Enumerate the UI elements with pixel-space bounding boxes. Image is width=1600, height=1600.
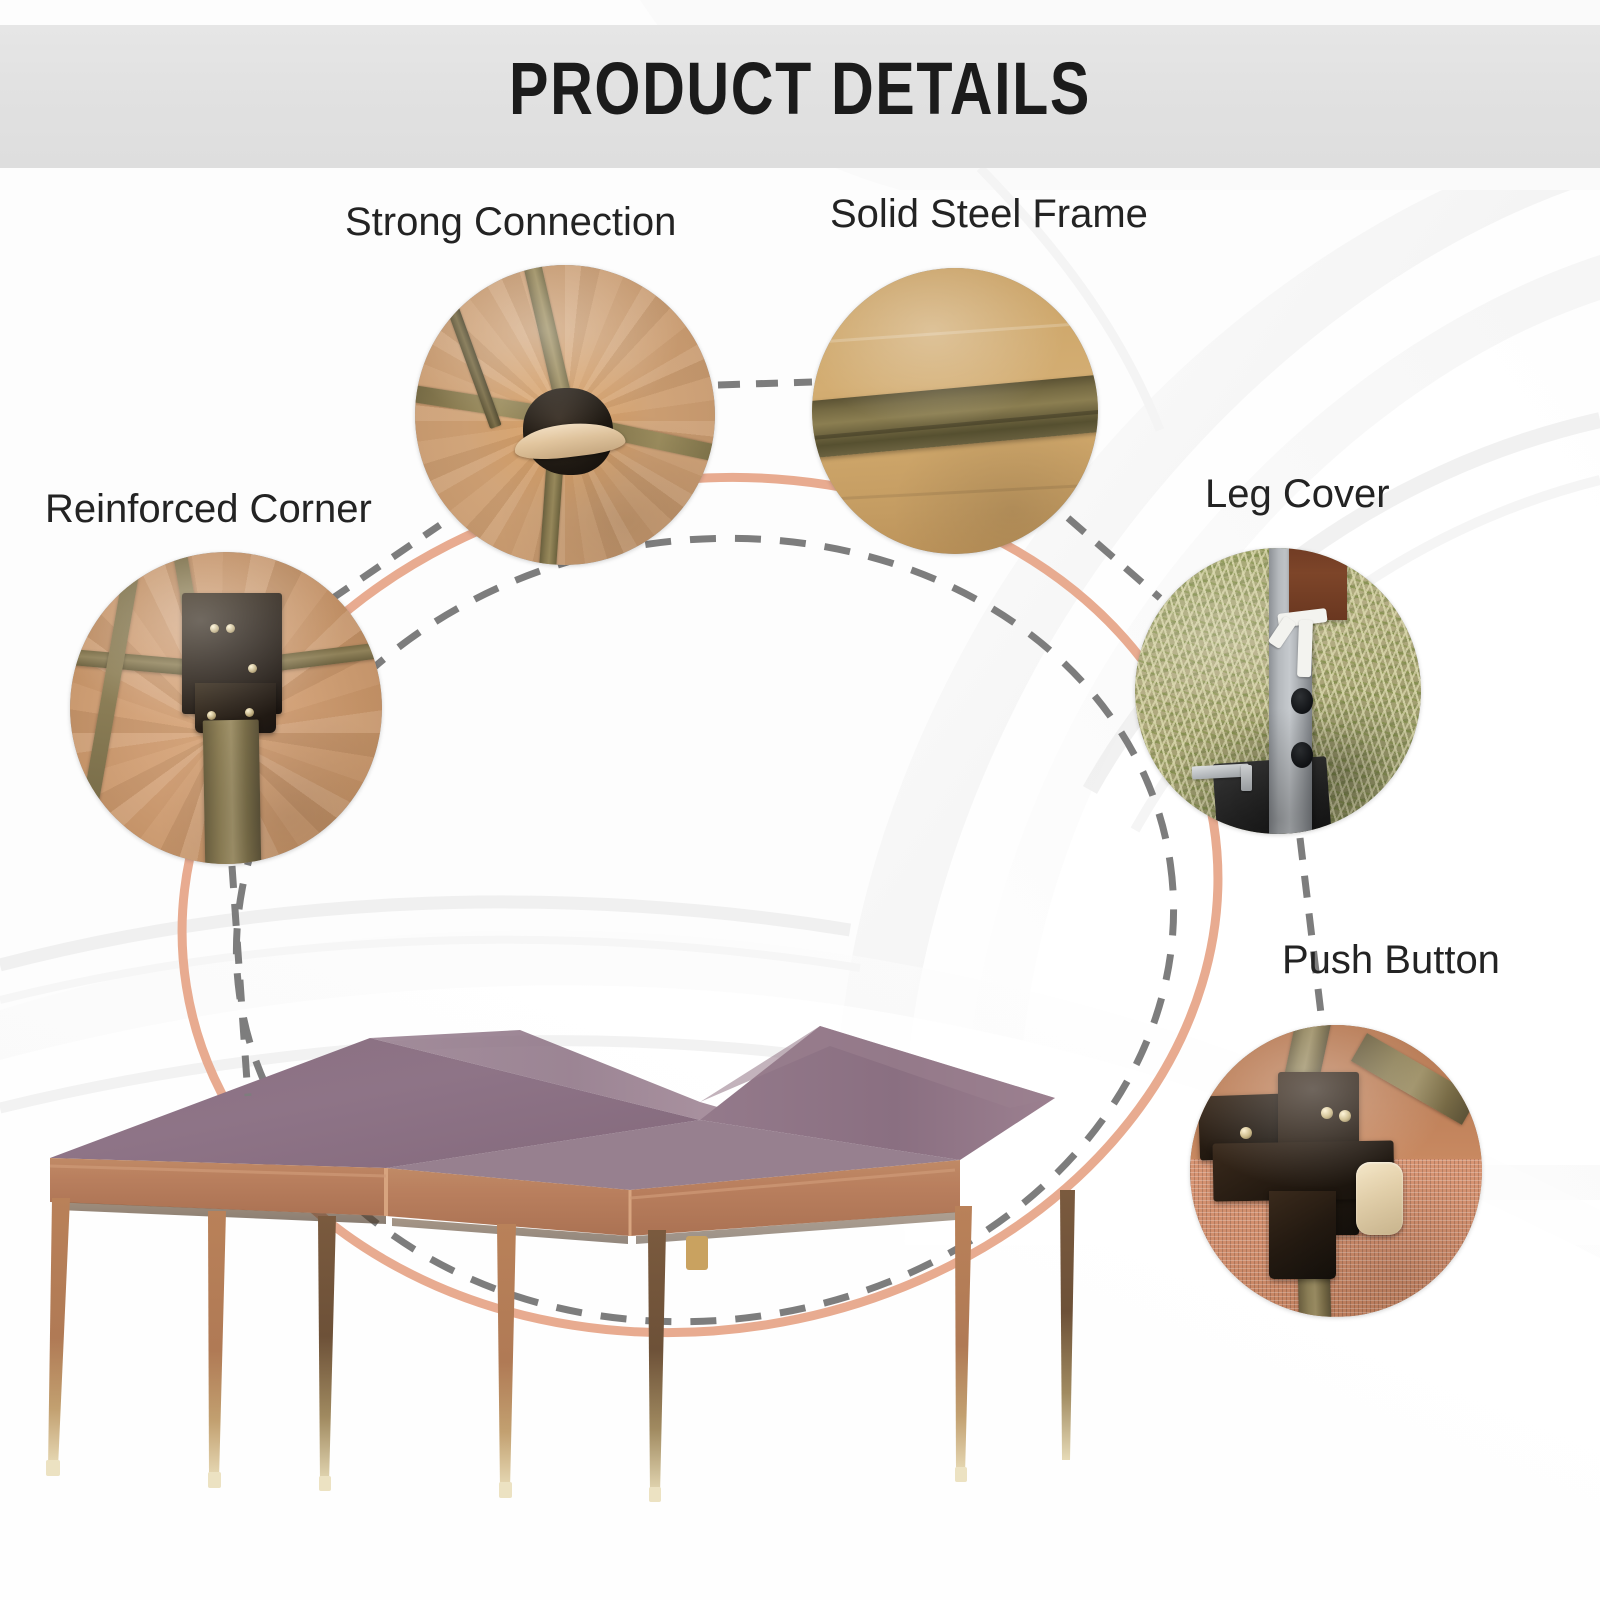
callout-photo-leg-cover[interactable] [1135,548,1421,834]
label-leg-cover: Leg Cover [1205,472,1390,517]
callout-photo-solid-steel-frame[interactable] [812,268,1098,554]
connector-strong-to-steel [718,382,812,385]
callout-photo-reinforced-corner[interactable] [70,552,382,864]
connector-legcover-to-push [1300,838,1322,1022]
infographic-canvas: PRODUCT DETAILS [0,0,1600,1600]
label-reinforced-corner: Reinforced Corner [45,487,372,532]
photo-sheen [70,552,382,864]
callout-photo-push-button[interactable] [1190,1025,1482,1317]
label-solid-steel-frame: Solid Steel Frame [830,192,1148,237]
photo-sheen [812,268,1098,554]
photo-sheen [1190,1025,1482,1317]
photo-vignette [1135,548,1421,834]
label-push-button: Push Button [1282,938,1500,983]
connector-corner-to-product [232,866,248,1096]
callout-photo-strong-connection[interactable] [415,265,715,565]
label-strong-connection: Strong Connection [345,200,676,245]
photo-sheen [415,265,715,565]
